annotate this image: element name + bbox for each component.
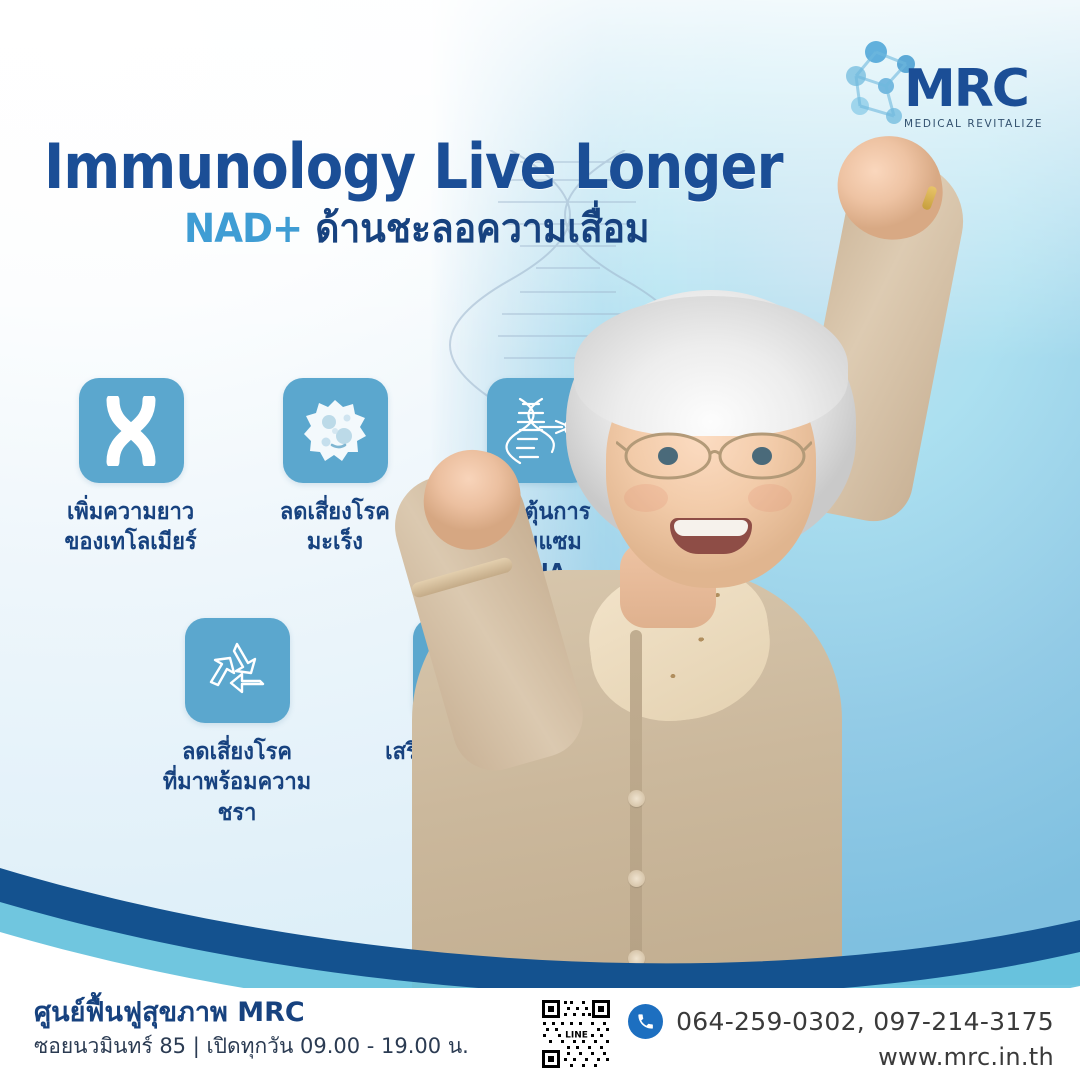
- recycle-icon: [185, 618, 290, 723]
- subtitle-accent: NAD+: [184, 206, 302, 252]
- contact-block: 064-259-0302, 097-214-3175 www.mrc.in.th: [628, 998, 1054, 1071]
- mrc-logo: MRC MEDICAL REVITALIZED CENTER: [844, 34, 1044, 139]
- benefit-label: ลดเสี่ยงโรค มะเร็ง: [280, 497, 390, 558]
- footer-left: ศูนย์ฟื้นฟูสุขภาพ MRC ซอยนวมินทร์ 85 | เ…: [34, 996, 469, 1060]
- address-hours: ซอยนวมินทร์ 85 | เปิดทุกวัน 09.00 - 19.0…: [34, 1033, 469, 1060]
- phone-icon[interactable]: [628, 1004, 663, 1039]
- logo-tagline: MEDICAL REVITALIZED CENTER: [904, 118, 1044, 130]
- teeth: [674, 520, 748, 536]
- phone-row: 064-259-0302, 097-214-3175: [628, 1004, 1054, 1039]
- benefit-item: เพิ่มความยาว ของเทโลเมียร์: [56, 378, 206, 588]
- eyeglasses-icon: [616, 430, 812, 482]
- cardigan-button: [628, 790, 645, 807]
- center-name: ศูนย์ฟื้นฟูสุขภาพ MRC: [34, 996, 469, 1030]
- svg-text:MRC: MRC: [904, 59, 1028, 119]
- qr-line-label: LINE: [565, 1031, 588, 1041]
- footer-bar: ศูนย์ฟื้นฟูสุขภาพ MRC ซอยนวมินทร์ 85 | เ…: [0, 988, 1080, 1080]
- line-qr-code[interactable]: LINE: [540, 998, 612, 1070]
- hair-fringe: [574, 296, 848, 436]
- poster: MRC MEDICAL REVITALIZED CENTER Immunolog…: [0, 0, 1080, 1080]
- phone-number[interactable]: 064-259-0302, 097-214-3175: [676, 1007, 1054, 1036]
- cancer-cell-icon: [283, 378, 388, 483]
- elderly-woman-photo: [470, 150, 1080, 1010]
- chromosome-icon: [79, 378, 184, 483]
- benefit-label: เพิ่มความยาว ของเทโลเมียร์: [65, 497, 197, 558]
- benefit-item: ลดเสี่ยงโรค ที่มาพร้อมความชรา: [148, 618, 326, 828]
- benefit-item: ลดเสี่ยงโรค มะเร็ง: [260, 378, 410, 588]
- benefit-label: ลดเสี่ยงโรค ที่มาพร้อมความชรา: [152, 737, 321, 828]
- footer-right: LINE 064-259-0302, 097-214-3175 www.mrc.…: [540, 998, 1054, 1071]
- cheek-right: [748, 484, 792, 512]
- cardigan-button: [628, 870, 645, 887]
- cardigan-button: [628, 950, 645, 967]
- website-url[interactable]: www.mrc.in.th: [628, 1043, 1054, 1071]
- cardigan-placket: [630, 630, 642, 1030]
- smiling-mouth: [670, 518, 752, 554]
- cheek-left: [624, 484, 668, 512]
